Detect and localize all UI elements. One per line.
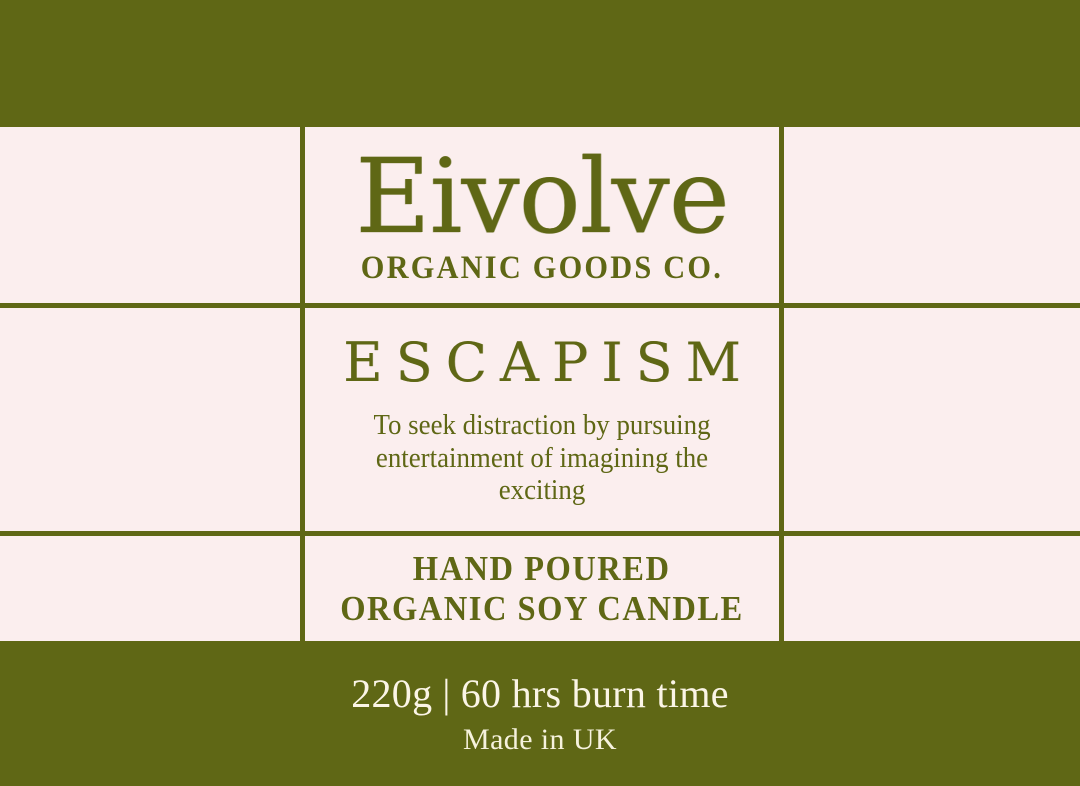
scent-description: To seek distraction by pursuing entertai… xyxy=(336,410,749,508)
product-type-line-1: HAND POURED xyxy=(413,549,671,588)
scent-name: ESCAPISM xyxy=(330,331,754,394)
footer-band: 220g|60 hrs burn time Made in UK xyxy=(0,641,1080,786)
product-type-line-2: ORGANIC SOY CANDLE xyxy=(340,589,744,628)
candle-label-canvas: Eivolve ORGANIC GOODS CO. ESCAPISM To se… xyxy=(0,0,1080,786)
scent-cell: ESCAPISM To seek distraction by pursuing… xyxy=(305,308,779,531)
vertical-divider-right xyxy=(779,127,784,641)
top-green-band xyxy=(0,0,1080,127)
brand-cell: Eivolve ORGANIC GOODS CO. xyxy=(305,132,779,303)
product-type-cell: HAND POURED ORGANIC SOY CANDLE xyxy=(305,536,779,641)
footer-burn-time: 60 hrs burn time xyxy=(461,671,729,716)
footer-specs: 220g|60 hrs burn time xyxy=(351,670,729,717)
brand-tagline: ORGANIC GOODS CO. xyxy=(361,250,723,287)
footer-separator: | xyxy=(432,671,460,716)
footer-origin: Made in UK xyxy=(463,723,617,757)
brand-name: Eivolve xyxy=(355,148,728,247)
footer-weight: 220g xyxy=(351,671,432,716)
